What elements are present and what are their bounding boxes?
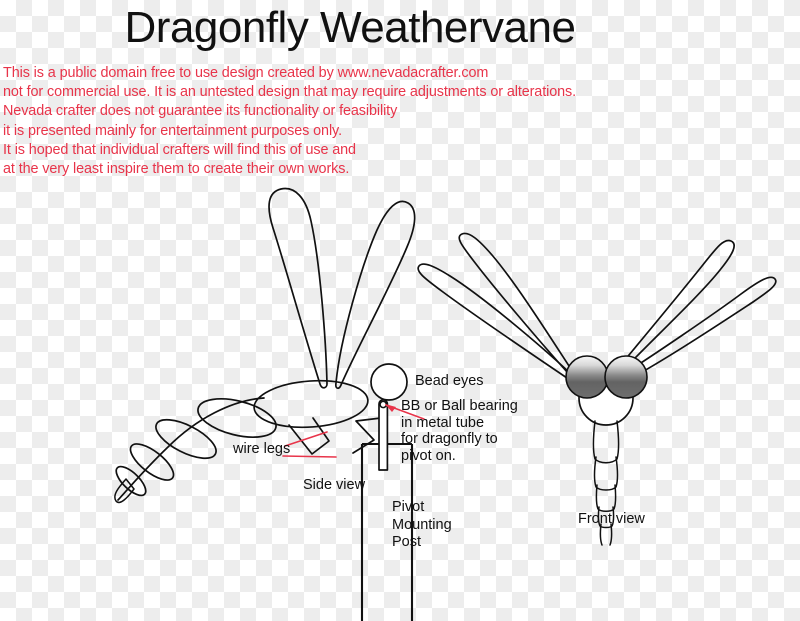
label-bb-line-3: for dragonfly to [401,431,498,447]
disclaimer-line-5: It is hoped that individual crafters wil… [3,141,613,160]
side-view-wire-leg-rear [289,418,329,454]
drawing-canvas: Dragonfly Weathervane This is a public d… [0,0,800,621]
label-pivot-line-3: Post [392,534,421,550]
front-view-lower-right-wing [614,277,776,385]
label-pivot-line-2: Mounting [392,517,452,533]
disclaimer-text: This is a public domain free to use desi… [3,64,613,179]
front-view-tail-segment-3 [596,485,615,511]
label-front-view: Front view [578,511,645,529]
label-bb-line-2: in metal tube [401,415,484,431]
bb-ball-bearing [380,401,386,407]
metal-tube [379,400,387,470]
label-side-view: Side view [303,477,365,495]
side-view-hind-wing [336,201,415,388]
side-view-group [112,189,424,621]
label-bb-line-1: BB or Ball bearing [401,398,518,414]
disclaimer-line-6: at the very least inspire them to create… [3,160,613,179]
label-wire-legs: wire legs [233,441,290,459]
wire-legs-leader-upper [285,432,327,446]
disclaimer-line-3: Nevada crafter does not guarantee its fu… [3,102,613,121]
front-view-bead-eye-left [566,356,608,398]
side-view-tail-tip [115,479,134,502]
front-view-tail-segment-2 [595,457,618,490]
side-view-wire-leg-front [353,418,381,453]
disclaimer-line-1: This is a public domain free to use desi… [3,64,613,83]
front-view-upper-right-wing [613,240,735,378]
label-pivot-mounting-post: PivotMountingPost [392,499,452,552]
side-view-tail-segment-1 [194,392,280,444]
front-view-body [579,371,633,425]
side-view-head [371,364,407,400]
side-view-thorax [253,377,370,431]
front-view-lower-left-wing [418,264,572,379]
disclaimer-line-2: not for commercial use. It is an unteste… [3,83,613,102]
label-bead-eyes: Bead eyes [415,373,484,391]
label-bb-ball-bearing: BB or Ball bearingin metal tubefor drago… [401,398,518,464]
disclaimer-line-4: it is presented mainly for entertainment… [3,122,613,141]
side-view-tail-segment-4 [112,462,150,500]
side-view-tail-segment-2 [150,412,221,466]
label-bb-line-4: pivot on. [401,448,456,464]
wire-legs-leader-lower [283,456,336,457]
front-view-tail-segment-1 [594,421,619,463]
bb-leader-arrowhead [385,404,396,412]
label-pivot-line-1: Pivot [392,499,424,515]
side-view-fore-wing [269,189,327,388]
front-view-bead-eye-right [605,356,647,398]
front-view-upper-left-wing [459,233,572,374]
side-view-tail-segment-3 [125,438,179,487]
page-title: Dragonfly Weathervane [0,2,700,54]
